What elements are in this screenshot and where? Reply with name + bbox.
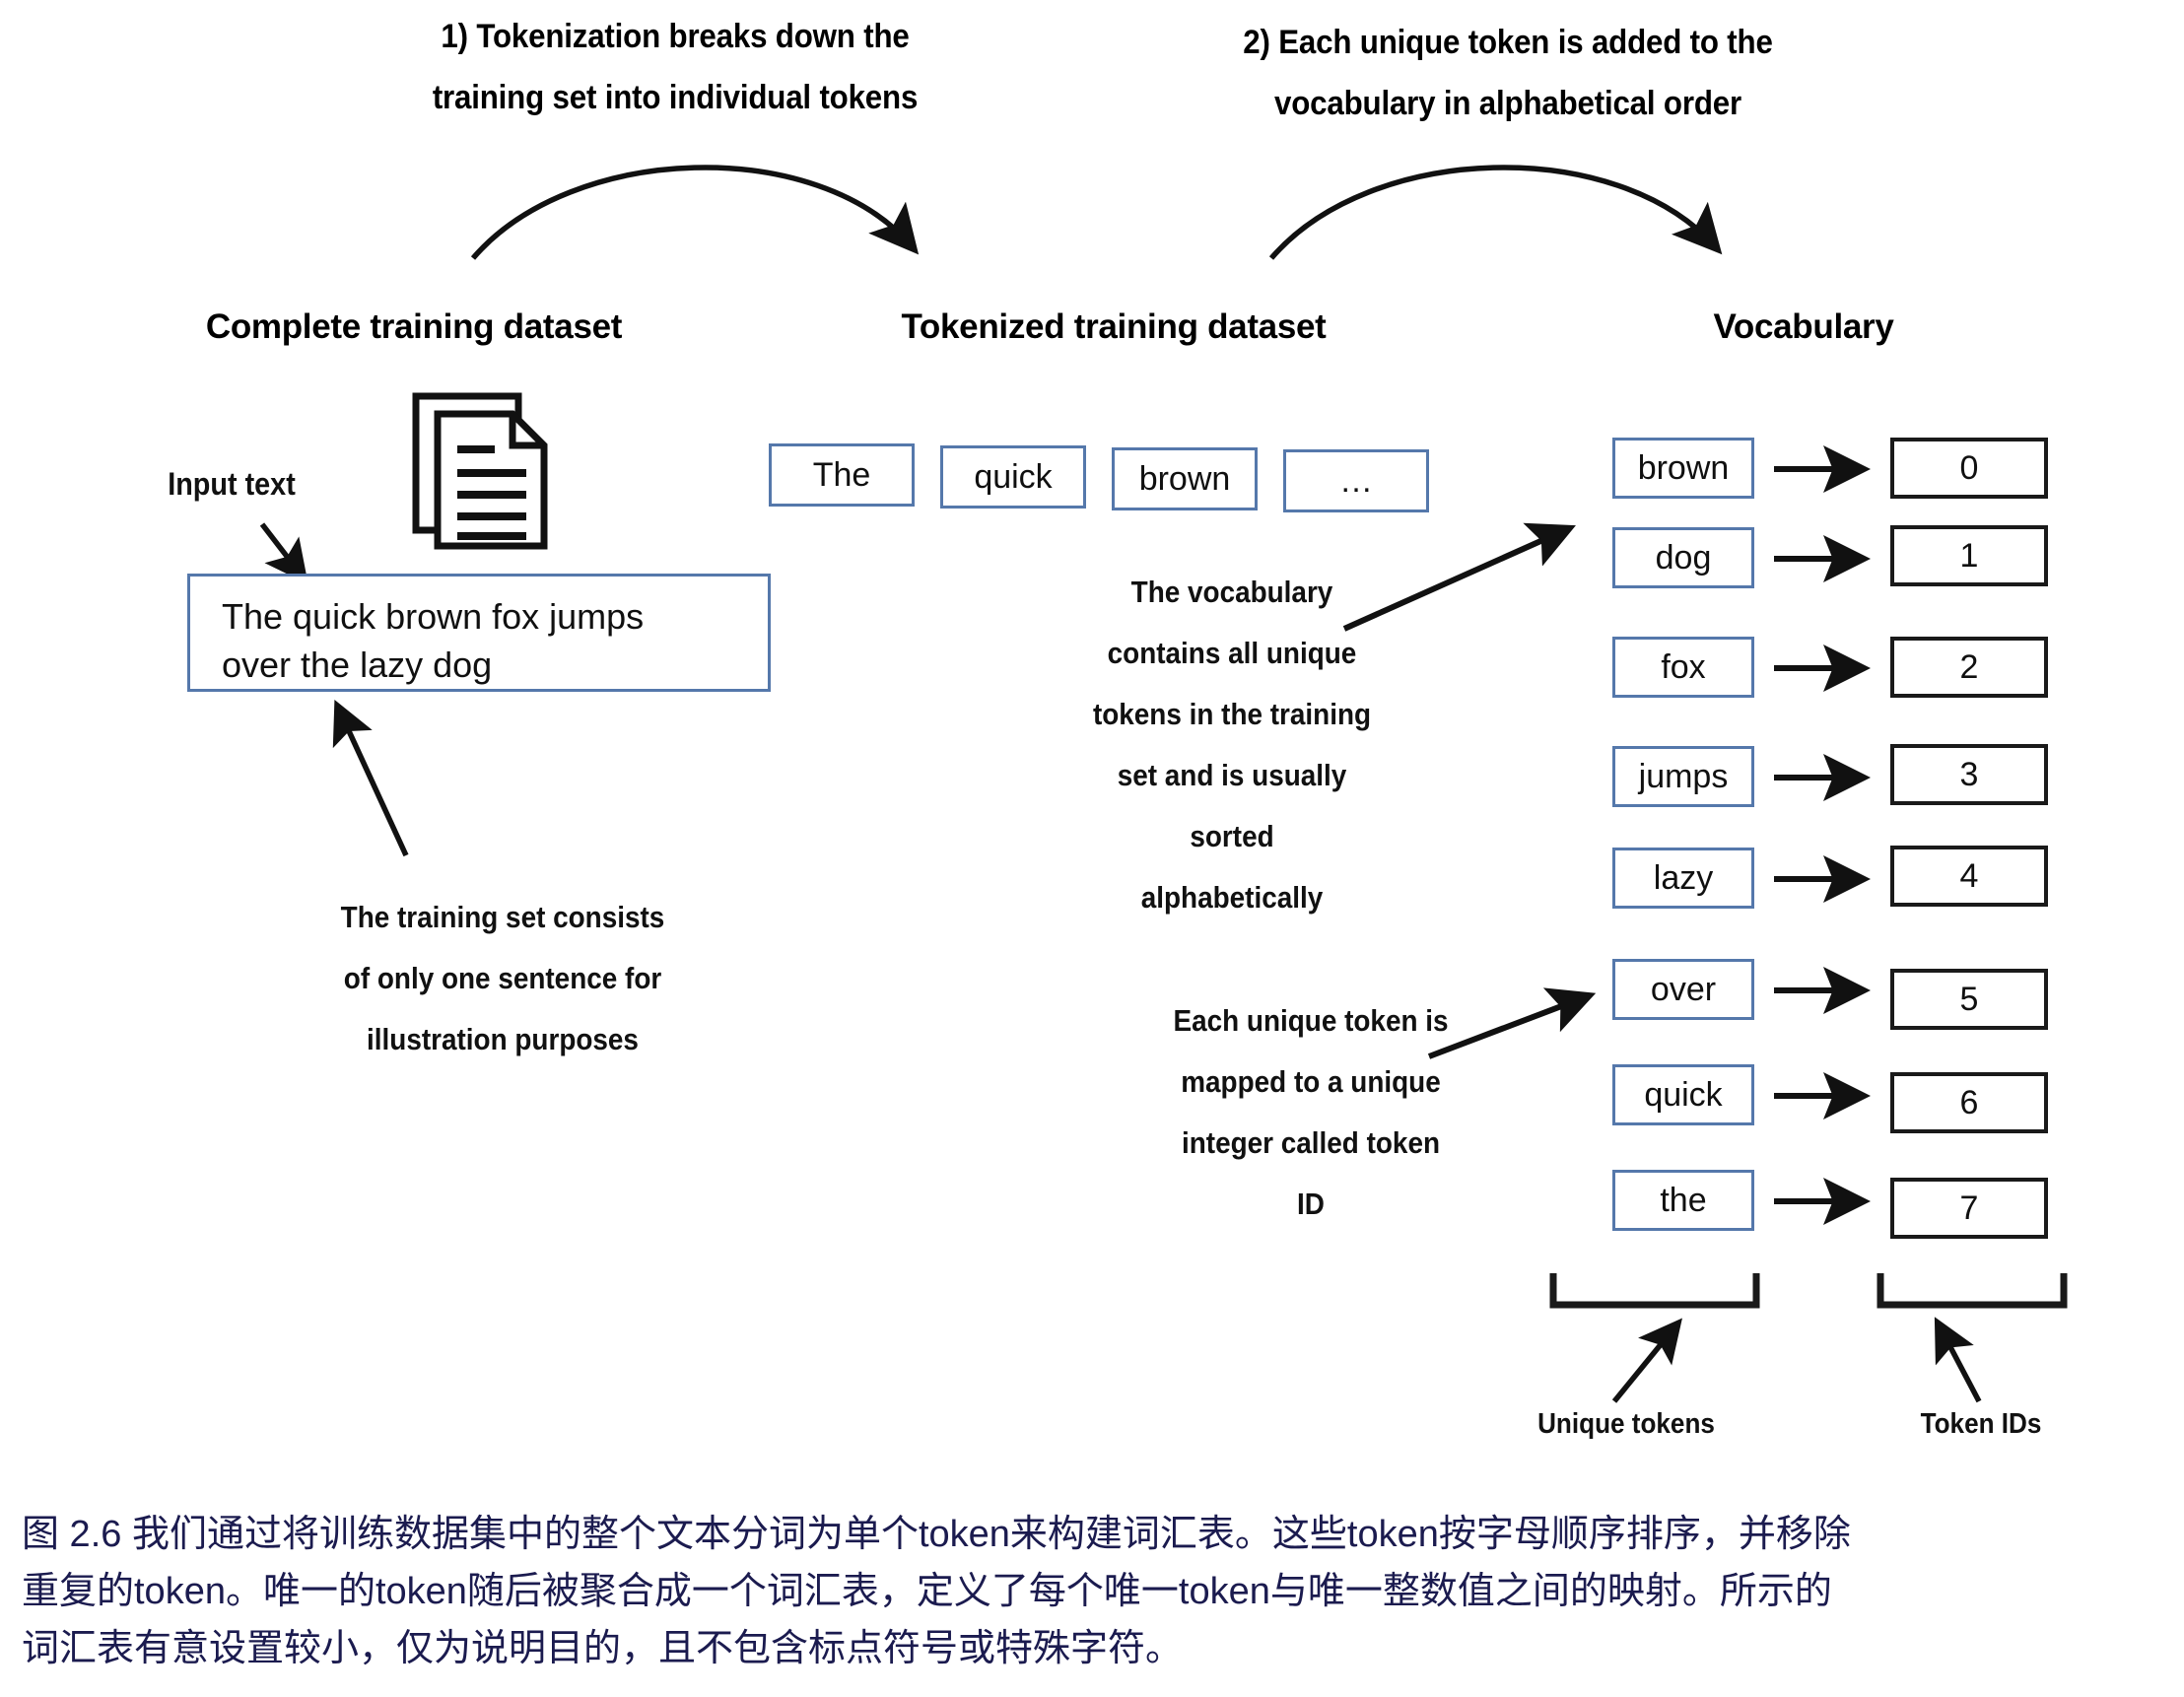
- map-arrow: [1774, 545, 1882, 573]
- token-ids-brace: [1875, 1269, 2072, 1315]
- vocab-token-label: dog: [1656, 539, 1712, 577]
- vocab-id-box[interactable]: 3: [1890, 744, 2048, 805]
- training-set-note-line-3: illustration purposes: [281, 1009, 724, 1070]
- token-box-quick[interactable]: quick: [940, 445, 1086, 509]
- vocab-id-label: 2: [1960, 648, 1979, 687]
- vocab-token-box[interactable]: lazy: [1612, 848, 1754, 909]
- map-arrow: [1774, 865, 1882, 893]
- vocab-token-label: fox: [1661, 648, 1705, 687]
- vocab-id-label: 5: [1960, 981, 1979, 1019]
- section-title-complete-training-dataset: Complete training dataset: [108, 307, 719, 347]
- training-set-note-line-2: of only one sentence for: [281, 948, 724, 1009]
- step-1-line-2: training set into individual tokens: [389, 67, 961, 128]
- documents-icon: [410, 392, 558, 552]
- figure-caption-line-1: 图 2.6 我们通过将训练数据集中的整个文本分词为单个token来构建词汇表。这…: [22, 1506, 2170, 1563]
- vocabulary-note-arrow: [1331, 483, 1626, 641]
- vocab-id-box[interactable]: 1: [1890, 525, 2048, 586]
- figure-caption: 图 2.6 我们通过将训练数据集中的整个文本分词为单个token来构建词汇表。这…: [22, 1506, 2170, 1677]
- token-label: quick: [974, 458, 1052, 497]
- section-title-vocabulary: Vocabulary: [1537, 307, 2070, 347]
- token-ids-arrow: [1912, 1311, 2070, 1419]
- figure-caption-line-2: 重复的token。唯一的token随后被聚合成一个词汇表，定义了每个唯一toke…: [22, 1563, 2170, 1620]
- vocab-token-label: brown: [1638, 449, 1730, 488]
- vocab-token-box[interactable]: the: [1612, 1170, 1754, 1231]
- token-id-note-line-4: ID: [1098, 1174, 1524, 1235]
- unique-tokens-arrow: [1597, 1311, 1754, 1419]
- vocab-token-label: jumps: [1639, 758, 1729, 796]
- step-1-line-1: 1) Tokenization breaks down the: [389, 6, 961, 67]
- figure-caption-line-3: 词汇表有意设置较小，仅为说明目的，且不包含标点符号或特殊字符。: [22, 1620, 2170, 1677]
- map-arrow: [1774, 977, 1882, 1004]
- step-2-caption: 2) Each unique token is added to the voc…: [1208, 12, 1807, 134]
- vocab-id-box[interactable]: 7: [1890, 1178, 2048, 1239]
- vocab-id-box[interactable]: 4: [1890, 846, 2048, 907]
- vocab-token-box[interactable]: over: [1612, 959, 1754, 1020]
- input-text-line-1: The quick brown fox jumps: [222, 592, 768, 641]
- curved-arrow-2: [1262, 148, 1853, 286]
- vocab-token-label: quick: [1644, 1076, 1722, 1115]
- curved-arrow-1: [463, 148, 1055, 286]
- vocab-token-label: lazy: [1654, 859, 1713, 898]
- vocab-id-box[interactable]: 2: [1890, 637, 2048, 698]
- vocab-token-box[interactable]: jumps: [1612, 746, 1754, 807]
- vocab-id-label: 0: [1960, 449, 1979, 488]
- step-1-caption: 1) Tokenization breaks down the training…: [389, 6, 961, 128]
- unique-tokens-brace: [1547, 1269, 1764, 1315]
- map-arrow: [1774, 1188, 1882, 1215]
- training-set-note: The training set consists of only one se…: [281, 887, 724, 1070]
- training-set-note-line-1: The training set consists: [281, 887, 724, 948]
- diagram-canvas: 1) Tokenization breaks down the training…: [0, 0, 2184, 1697]
- section-title-tokenized-training-dataset: Tokenized training dataset: [808, 307, 1419, 347]
- vocab-id-label: 7: [1960, 1189, 1979, 1228]
- map-arrow: [1774, 654, 1882, 682]
- vocabulary-note-line-4: set and is usually: [1010, 745, 1454, 806]
- input-text-label: Input text: [130, 463, 334, 505]
- training-set-note-arrow: [315, 690, 453, 877]
- vocabulary-note-line-5: sorted: [1010, 806, 1454, 867]
- vocab-id-label: 3: [1960, 756, 1979, 794]
- input-text-box[interactable]: The quick brown fox jumps over the lazy …: [187, 574, 771, 692]
- token-box-brown[interactable]: brown: [1112, 447, 1258, 510]
- input-text-line-2: over the lazy dog: [222, 641, 768, 689]
- step-2-line-2: vocabulary in alphabetical order: [1208, 73, 1807, 134]
- vocab-token-box[interactable]: fox: [1612, 637, 1754, 698]
- vocab-id-box[interactable]: 0: [1890, 438, 2048, 499]
- vocab-id-box[interactable]: 5: [1890, 969, 2048, 1030]
- token-label: The: [813, 456, 871, 495]
- vocab-token-label: the: [1660, 1182, 1706, 1220]
- vocab-id-label: 1: [1960, 537, 1979, 576]
- token-ids-label: Token IDs: [1857, 1404, 2105, 1444]
- vocab-id-label: 6: [1960, 1084, 1979, 1122]
- unique-tokens-label: Unique tokens: [1475, 1404, 1777, 1444]
- map-arrow: [1774, 455, 1882, 483]
- vocab-token-label: over: [1651, 971, 1716, 1009]
- vocabulary-note-line-3: tokens in the training: [1010, 684, 1454, 745]
- vocab-token-box[interactable]: brown: [1612, 438, 1754, 499]
- vocab-token-box[interactable]: dog: [1612, 527, 1754, 588]
- token-id-note-line-3: integer called token: [1098, 1113, 1524, 1174]
- step-2-line-1: 2) Each unique token is added to the: [1208, 12, 1807, 73]
- token-label: brown: [1139, 460, 1231, 499]
- vocab-id-box[interactable]: 6: [1890, 1072, 2048, 1133]
- vocab-id-label: 4: [1960, 857, 1979, 896]
- vocabulary-note-line-6: alphabetically: [1010, 867, 1454, 928]
- token-box-the[interactable]: The: [769, 443, 915, 507]
- map-arrow: [1774, 1082, 1882, 1110]
- map-arrow: [1774, 764, 1882, 791]
- vocab-token-box[interactable]: quick: [1612, 1064, 1754, 1125]
